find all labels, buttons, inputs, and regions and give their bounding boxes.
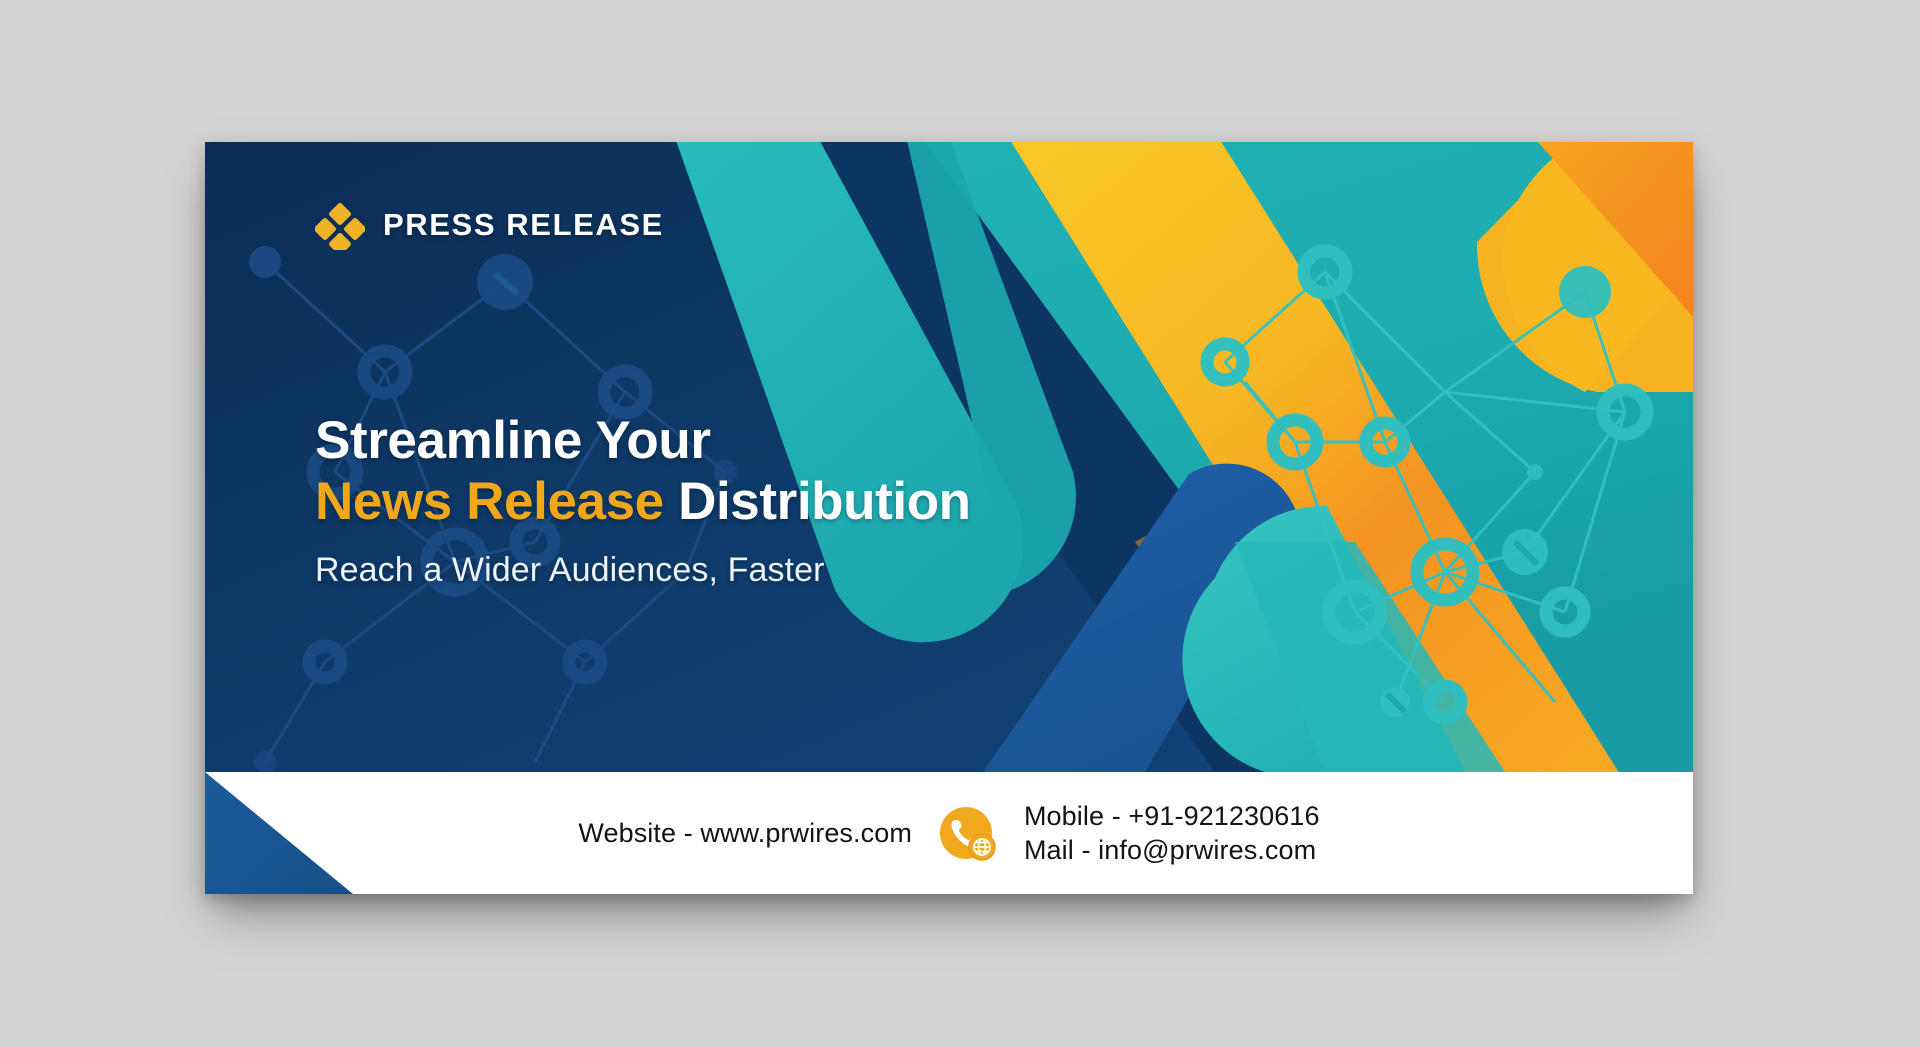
headline-rest: Distribution (664, 472, 971, 531)
press-release-banner: PRESS RELEASE Streamline Your News Relea… (205, 142, 1693, 894)
phone-globe-icon (938, 803, 998, 863)
headline-accent: News Release (315, 472, 664, 531)
brand-lockup[interactable]: PRESS RELEASE (315, 200, 664, 250)
page-canvas: PRESS RELEASE Streamline Your News Relea… (0, 0, 1920, 1047)
brand-name: PRESS RELEASE (383, 207, 664, 243)
website-text[interactable]: Website - www.prwires.com (578, 818, 912, 849)
contact-details: Mobile - +91-921230616 Mail - info@prwir… (1024, 801, 1320, 866)
headline-line-1: Streamline Your (315, 410, 1195, 471)
footer-content: Website - www.prwires.com (205, 772, 1693, 894)
headline-block: Streamline Your News Release Distributio… (315, 410, 1195, 590)
headline-line-2: News Release Distribution (315, 471, 1195, 532)
mobile-text[interactable]: Mobile - +91-921230616 (1024, 801, 1320, 832)
banner-hero: PRESS RELEASE Streamline Your News Relea… (205, 142, 1693, 772)
mail-text[interactable]: Mail - info@prwires.com (1024, 835, 1320, 866)
four-diamonds-logo-icon (315, 200, 365, 250)
headline-subtitle: Reach a Wider Audiences, Faster (315, 551, 1195, 590)
contact-footer: Website - www.prwires.com (205, 772, 1693, 894)
